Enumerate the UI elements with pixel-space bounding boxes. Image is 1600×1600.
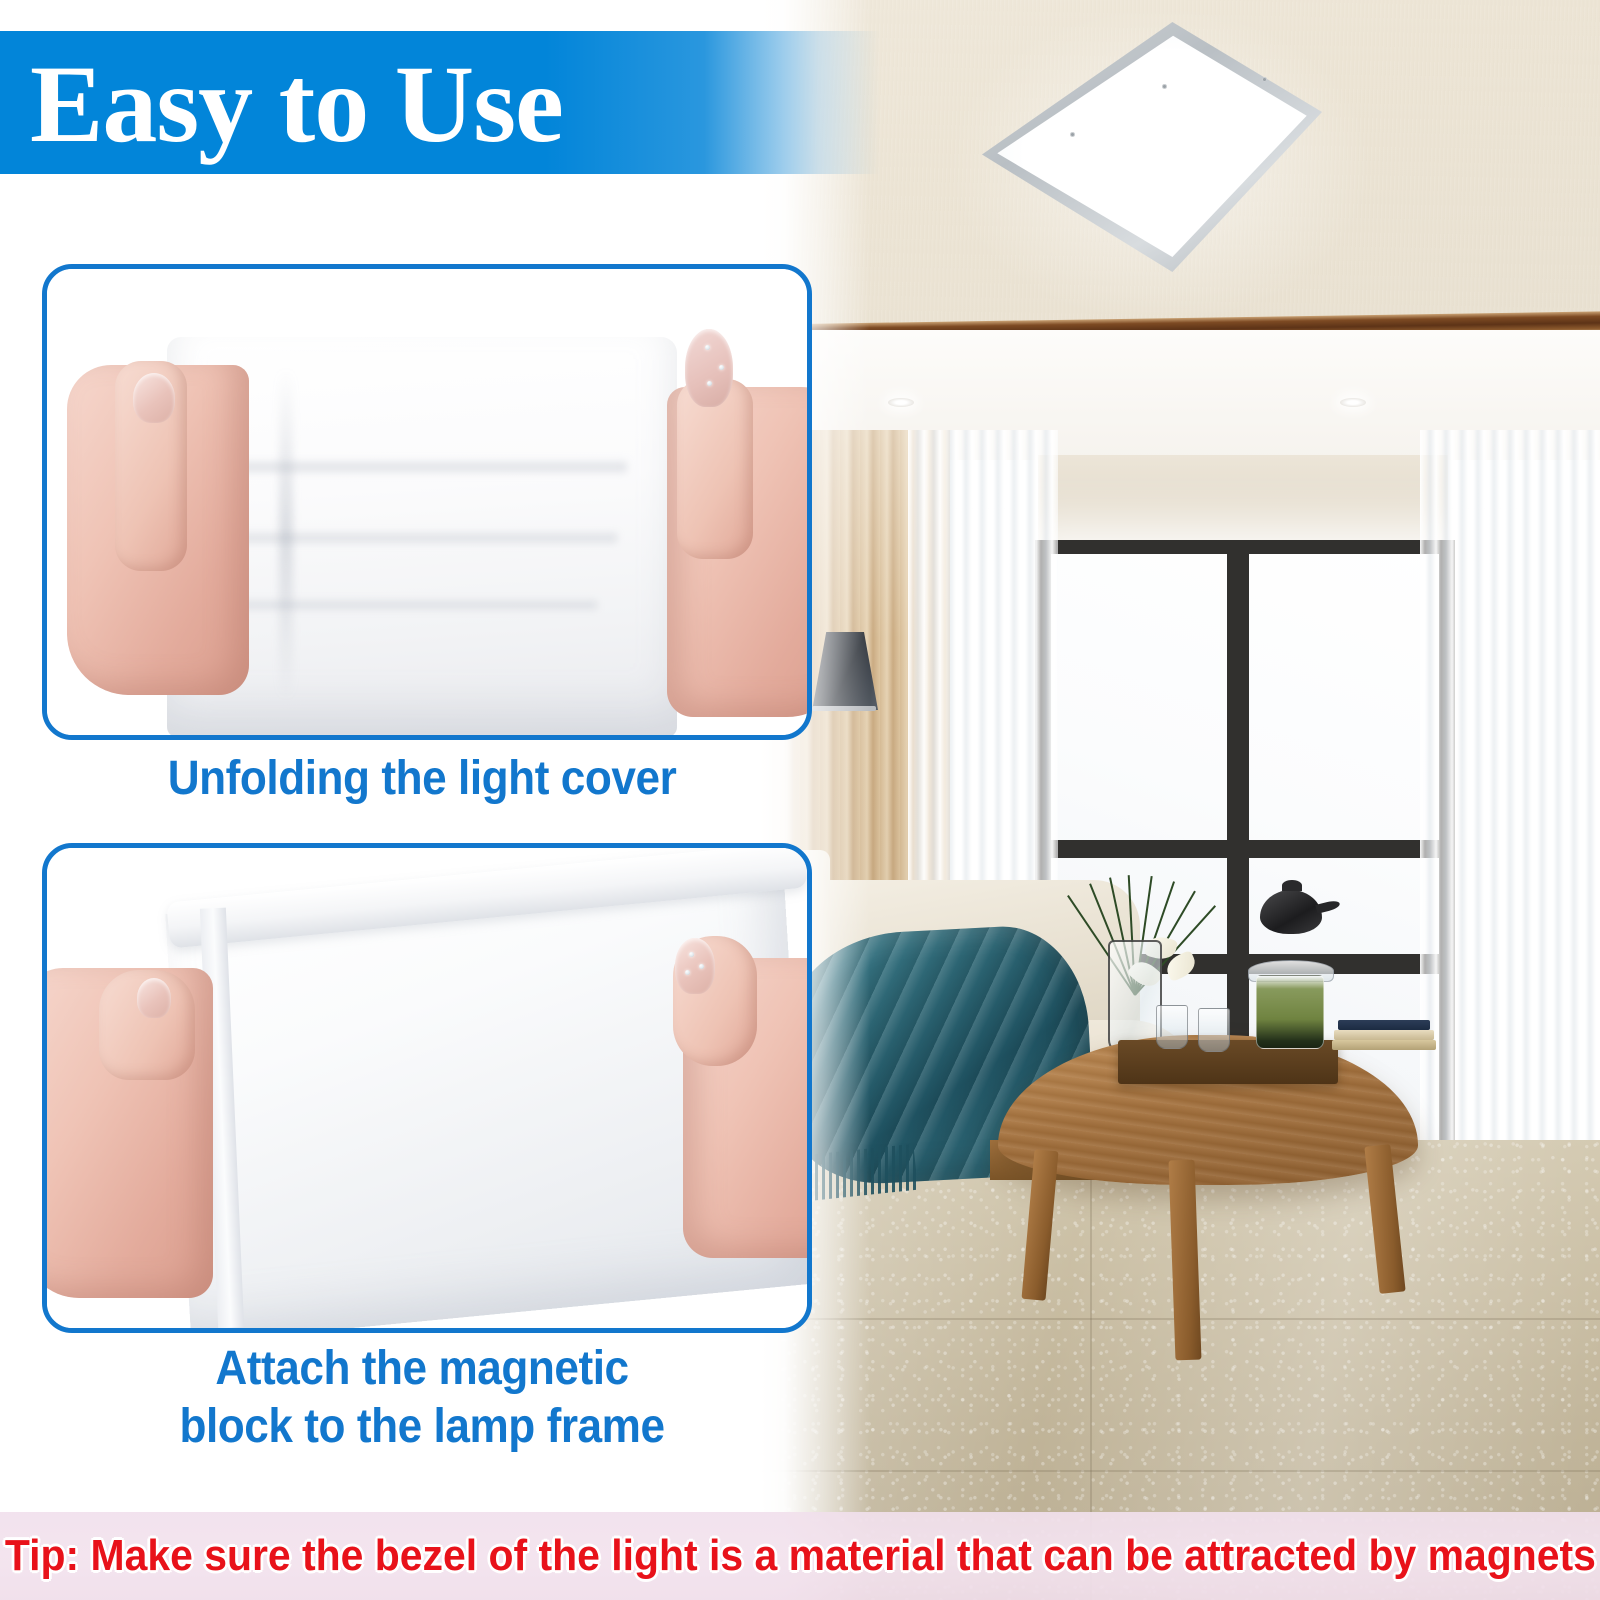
- left-thumb-nail: [133, 373, 175, 423]
- recessed-downlight: [888, 398, 914, 407]
- led-panel-screw: [1262, 77, 1267, 82]
- step-2-caption-line-1: Attach the magnetic: [34, 1340, 810, 1398]
- header-banner: Easy to Use: [0, 31, 880, 174]
- sheer-curtain-right: [1420, 430, 1600, 1150]
- led-ceiling-panel-product: [982, 22, 1322, 272]
- led-panel-screw: [1070, 132, 1075, 137]
- step-1-photo-frame: [42, 264, 812, 740]
- stacked-book: [1334, 1030, 1434, 1040]
- led-panel-diffuser: [982, 22, 1322, 272]
- step-2-caption-line-2: block to the lamp frame: [34, 1398, 810, 1456]
- stacked-book: [1338, 1020, 1430, 1030]
- left-fingernail: [137, 978, 171, 1018]
- tip-bar: Tip: Make sure the bezel of the light is…: [0, 1512, 1600, 1600]
- teapot-lid: [1282, 880, 1302, 891]
- step-2-caption: Attach the magnetic block to the lamp fr…: [34, 1340, 810, 1456]
- recessed-downlight: [1340, 398, 1366, 407]
- green-tea-canister: [1256, 975, 1324, 1049]
- cover-fold-crease: [279, 369, 293, 699]
- led-panel-screw: [1162, 84, 1167, 89]
- drinking-glass: [1198, 1008, 1230, 1052]
- stacked-book: [1332, 1040, 1436, 1050]
- nail-decoration-gem: [699, 964, 704, 969]
- step-1-photo: [47, 269, 807, 735]
- right-thumb-nail: [685, 329, 733, 407]
- step-2-photo: [47, 848, 807, 1328]
- nail-decoration-gem: [685, 970, 690, 975]
- nail-decoration-gem: [689, 952, 694, 957]
- drinking-glass: [1156, 1005, 1188, 1049]
- nail-decoration-gem: [707, 381, 712, 386]
- step-1-caption: Unfolding the light cover: [34, 750, 810, 808]
- page-title: Easy to Use: [30, 45, 563, 163]
- step-2-photo-frame: [42, 843, 812, 1333]
- cover-fold-crease: [217, 531, 617, 545]
- right-fingernail: [675, 938, 715, 994]
- floor-lamp-rim: [812, 706, 876, 711]
- nail-decoration-gem: [705, 345, 710, 350]
- room-scene-photo: [760, 0, 1600, 1600]
- window-soffit: [1038, 455, 1448, 545]
- tip-text: Tip: Make sure the bezel of the light is…: [5, 1531, 1596, 1581]
- infographic-canvas: Easy to Use Unfolding the light cover: [0, 0, 1600, 1600]
- cover-fold-crease: [197, 459, 627, 475]
- nail-decoration-gem: [719, 365, 724, 370]
- tile-seam: [760, 1470, 1600, 1472]
